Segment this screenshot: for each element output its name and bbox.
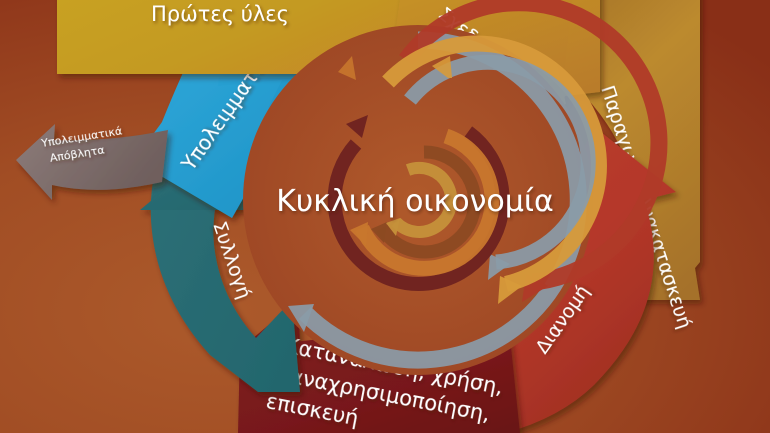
center-title: Κυκλική οικονομία [276,184,554,219]
stage-raw-materials-label: Πρώτες ύλες [151,2,289,26]
circular-economy-diagram: Παραγωγή, Ανακατασκευή Διανομή Κατανάλωσ… [0,0,770,433]
diagram-canvas: Παραγωγή, Ανακατασκευή Διανομή Κατανάλωσ… [0,0,770,433]
